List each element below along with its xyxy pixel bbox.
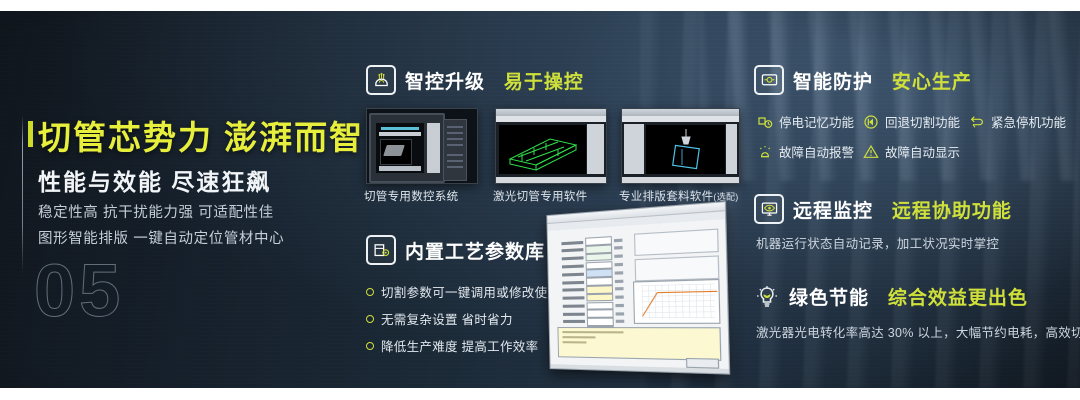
- log-textarea[interactable]: [557, 327, 721, 361]
- bullet-ring-icon: [366, 288, 374, 296]
- alarm-siren-icon: [756, 143, 773, 160]
- green-bulb-icon: [754, 284, 780, 310]
- feature-emergency-stop: 紧急停机功能: [968, 112, 1066, 131]
- green-energy-text: 激光器光电转化率高达 30% 以上，大幅节约电耗，高效切割: [756, 322, 1080, 341]
- cnc-keypad: [427, 123, 440, 173]
- section-header-smart-control: 智控升级 易于操控: [366, 65, 584, 95]
- nesting-window: [622, 109, 739, 183]
- left-vertical-divider: [22, 115, 23, 273]
- bullet-label: 无需复杂设置 省时省力: [381, 309, 513, 328]
- dark-banner-background: 切管芯势力 澎湃而智 性能与效能 尽速狂飙 稳定性高 抗干扰能力强 可适配性佳 …: [0, 11, 1080, 388]
- cad-window: [496, 109, 606, 183]
- parameter-dialog: [546, 201, 730, 375]
- section-title-white: 智能防护: [793, 72, 873, 93]
- product-image-tube-cad[interactable]: [495, 108, 607, 184]
- ai-chip-icon: [366, 65, 396, 95]
- section-title-white: 内置工艺参数库: [405, 242, 545, 263]
- cnc-screen: [376, 123, 424, 173]
- parameter-chart: [633, 279, 721, 324]
- bullet-item: 降低生产难度 提高工作效率: [366, 336, 538, 355]
- product-caption-cnc: 切管专用数控系统: [364, 188, 458, 204]
- section-title-green: 综合效益更出色: [888, 288, 1028, 309]
- power-memory-icon: [756, 113, 773, 130]
- remote-monitor-text: 机器运行状态自动记录，加工状况实时掌控: [756, 233, 999, 252]
- bullet-ring-icon: [366, 315, 374, 323]
- emergency-stop-icon: [968, 113, 985, 130]
- product-image-cnc[interactable]: [366, 108, 478, 184]
- feature-label: 紧急停机功能: [991, 112, 1066, 131]
- product-thumbnail-row: 切管专用数控系统: [366, 108, 738, 204]
- section-number: 05: [34, 254, 124, 328]
- bullet-label: 切割参数可一键调用或修改使用: [381, 282, 560, 301]
- headline: 切管芯势力 澎湃而智: [38, 111, 364, 159]
- promo-banner-page: 切管芯势力 澎湃而智 性能与效能 尽速狂飙 稳定性高 抗干扰能力强 可适配性佳 …: [0, 0, 1080, 400]
- section-title-green: 易于操控: [504, 72, 584, 93]
- left-point-1: 稳定性高 抗干扰能力强 可适配性佳: [38, 201, 274, 222]
- feature-label: 回退切割功能: [885, 112, 960, 131]
- subheadline: 性能与效能 尽速狂飙: [38, 163, 271, 197]
- cnc-panel: [369, 113, 445, 183]
- section-title-green: 安心生产: [892, 72, 972, 93]
- section-title-green: 远程协助功能: [892, 201, 1012, 222]
- feature-alarm: 故障自动报警: [756, 142, 854, 161]
- dialog-body: [548, 219, 729, 373]
- remote-eye-monitor-icon: [754, 194, 784, 224]
- section-header-parameter-db: 内置工艺参数库: [366, 235, 545, 265]
- feature-label: 故障自动显示: [885, 142, 960, 161]
- product-caption-tube-cad: 激光切管专用软件: [493, 188, 587, 204]
- feature-label: 故障自动报警: [779, 142, 854, 161]
- section-header-green-energy: 绿色节能 综合效益更出色: [754, 283, 1028, 310]
- bullet-item: 无需复杂设置 省时省力: [366, 309, 513, 328]
- bullet-ring-icon: [366, 342, 374, 350]
- bullet-label: 降低生产难度 提高工作效率: [381, 336, 538, 355]
- warning-triangle-icon: [862, 143, 879, 160]
- parameter-group-panel: [634, 229, 719, 285]
- section-title-white: 绿色节能: [789, 288, 869, 309]
- feature-power-memory: 停电记忆功能: [756, 112, 854, 131]
- section-title-white: 远程监控: [793, 201, 873, 222]
- cnc-controller-box: [443, 119, 467, 181]
- section-header-smart-protection: 智能防护 安心生产: [754, 65, 972, 95]
- rewind-cut-icon: [862, 113, 879, 130]
- parameter-database-icon: [366, 235, 396, 265]
- cutting-parameter-dialog-screenshot[interactable]: [540, 211, 718, 379]
- feature-label: 停电记忆功能: [779, 112, 854, 131]
- section-title-white: 智控升级: [405, 72, 485, 93]
- feature-rewind-cut: 回退切割功能: [862, 112, 960, 131]
- feature-fault-display: 故障自动显示: [862, 142, 960, 161]
- section-header-remote-monitor: 远程监控 远程协助功能: [754, 194, 1012, 224]
- bullet-item: 切割参数可一键调用或修改使用: [366, 282, 560, 301]
- left-point-2: 图形智能排版 一键自动定位管材中心: [38, 227, 284, 248]
- headline-accent-tick: [28, 121, 33, 147]
- parameter-field-grid: [561, 236, 626, 334]
- product-image-nesting[interactable]: [621, 108, 740, 184]
- shield-monitor-icon: [754, 65, 784, 95]
